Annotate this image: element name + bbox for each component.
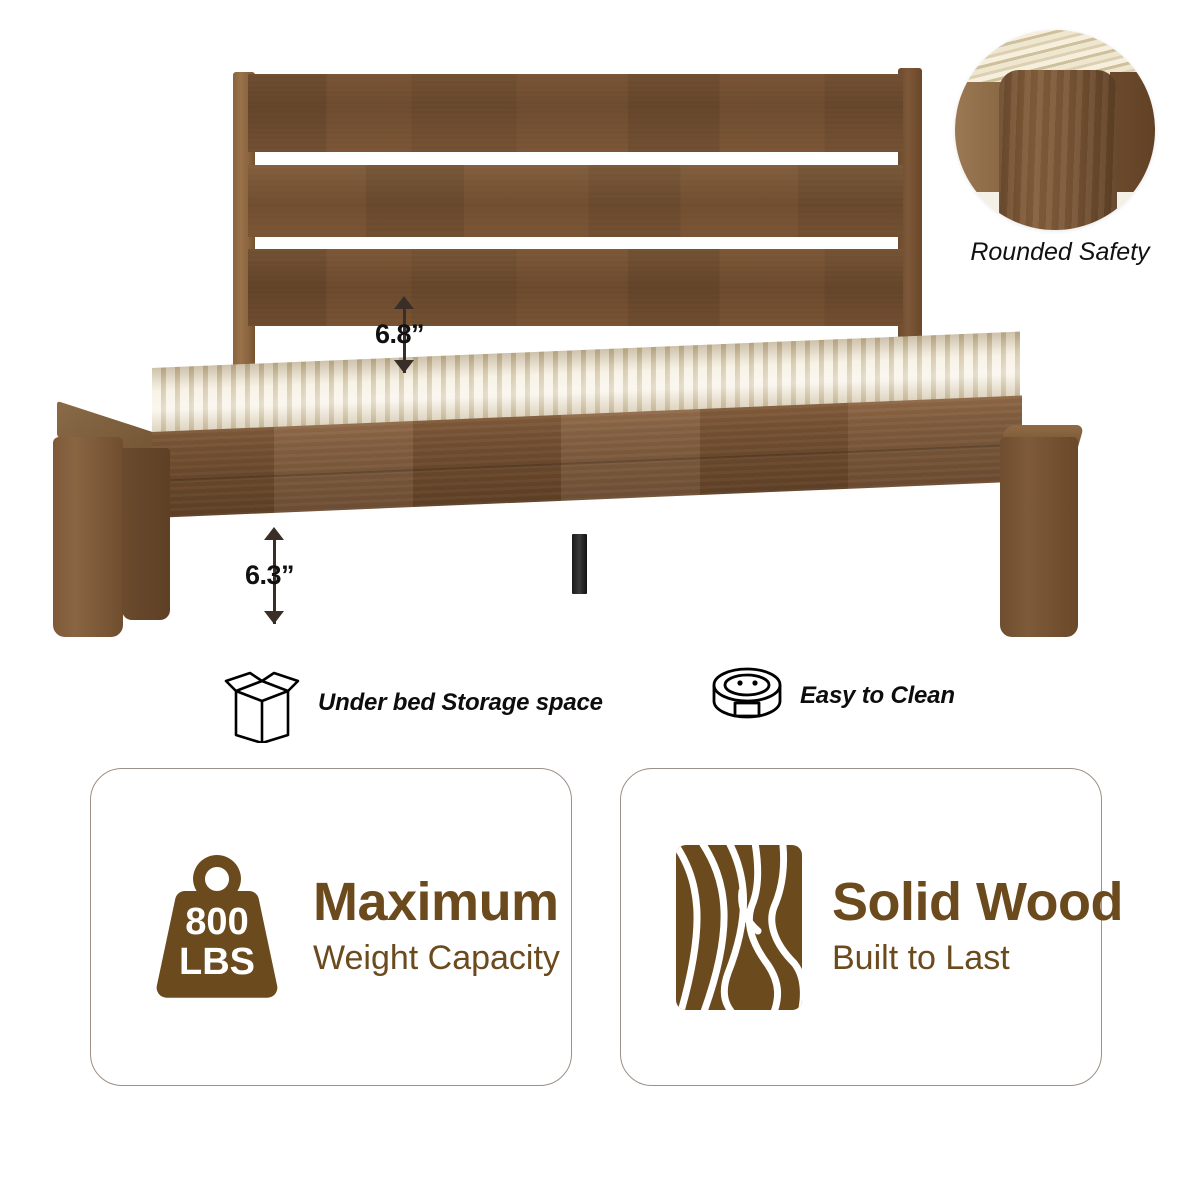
headboard-slat-middle [248,165,903,237]
wood-grain-texture [248,165,903,237]
feature-row: Under bed Storage space Easy to Clean [0,655,1200,750]
card-subtitle: Weight Capacity [313,937,560,980]
dimension-label: 6.3” [245,560,294,591]
leg-front-left [53,437,123,637]
weight-plate-icon: 800 LBS [151,853,283,1001]
arrow-down-icon [394,360,414,373]
weight-unit: LBS [151,943,283,981]
dimension-callout-headboard-clearance: 6.8” [380,296,500,384]
open-box-icon [222,663,302,743]
wood-grain-texture [248,74,903,152]
info-cards: 800 LBS Maximum Weight Capacity [0,768,1200,1088]
card-weight-text: Maximum Weight Capacity [313,874,560,979]
robot-vacuum-icon [710,663,784,729]
wood-grain-texture [999,70,1117,230]
weight-number: 800 [151,903,283,941]
card-title: Solid Wood [832,874,1123,931]
rounded-safety-inset: Rounded Safety [955,30,1165,290]
feature-easy-to-clean: Easy to Clean [710,663,955,729]
card-title: Maximum [313,874,560,931]
card-weight-capacity[interactable]: 800 LBS Maximum Weight Capacity [90,768,572,1086]
feature-under-bed-storage: Under bed Storage space [222,663,603,743]
dimension-label: 6.8” [375,319,424,350]
dimension-callout-under-bed-clearance: 6.3” [250,527,370,635]
rounded-safety-label: Rounded Safety [955,238,1165,267]
headboard-slat-top [248,74,903,152]
card-wood-text: Solid Wood Built to Last [832,874,1123,979]
feature-label: Under bed Storage space [318,689,603,717]
wood-grain-texture [248,249,903,326]
headboard-slat-bottom [248,249,903,326]
corner-left-face [955,82,1005,192]
arrow-down-icon [264,611,284,624]
rounded-corner-photo [955,30,1155,230]
feature-label: Easy to Clean [800,682,955,710]
product-photo: 6.8” 6.3” Rounded Safety [0,0,1200,660]
card-subtitle: Built to Last [832,937,1123,980]
leg-front-right [1000,437,1078,637]
center-metal-support-leg [572,534,587,594]
wood-grain-icon [676,845,802,1010]
leg-front-left-side [122,448,170,620]
rounded-corner-post [999,70,1117,230]
card-solid-wood[interactable]: Solid Wood Built to Last [620,768,1102,1086]
